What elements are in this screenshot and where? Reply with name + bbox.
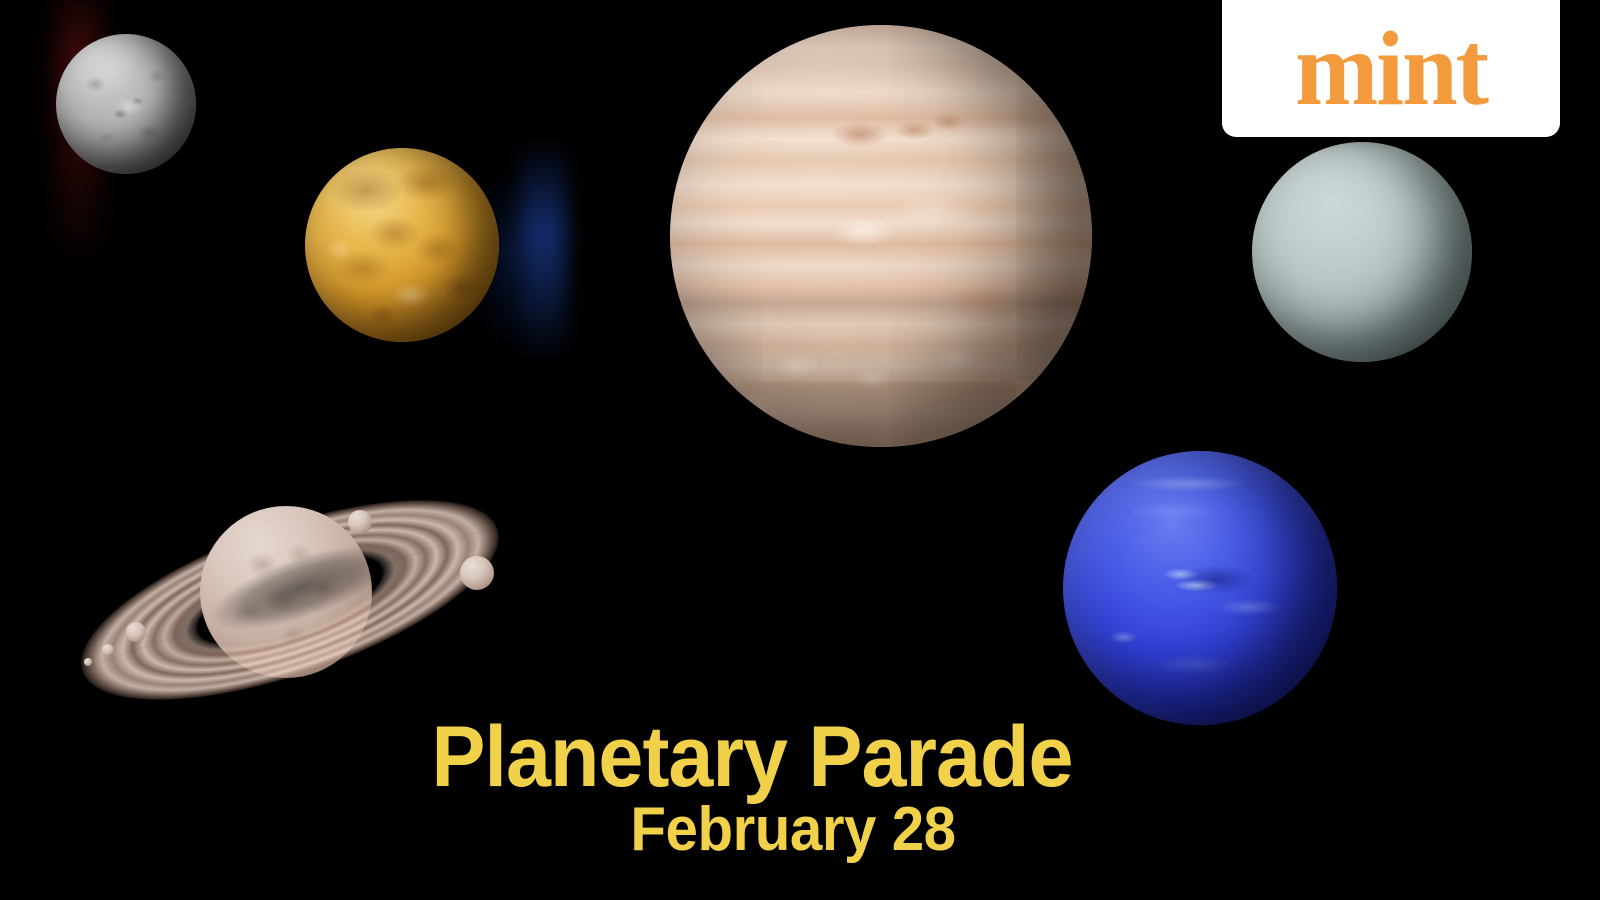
blue-nebula-glow	[520, 140, 566, 360]
saturn-moon-3	[126, 622, 146, 642]
planet-saturn-group	[56, 480, 526, 720]
mercury-shading	[56, 34, 196, 174]
planetary-parade-graphic: Planetary Parade February 28 mint	[0, 0, 1600, 900]
planet-mercury	[56, 34, 196, 174]
planet-uranus	[1252, 142, 1472, 362]
jupiter-shading	[670, 25, 1092, 447]
mint-logo-text: mint	[1295, 16, 1487, 122]
headline-block: Planetary Parade February 28	[0, 718, 1600, 861]
saturn-moon-1	[348, 510, 372, 534]
mint-logo[interactable]: mint	[1222, 0, 1560, 137]
page-subtitle: February 28	[34, 799, 1551, 861]
venus-shading	[305, 148, 499, 342]
uranus-shading	[1252, 142, 1472, 362]
saturn-moon-4	[102, 644, 114, 656]
planet-jupiter	[670, 25, 1092, 447]
page-title: Planetary Parade	[0, 718, 1549, 797]
planet-neptune	[1063, 451, 1337, 725]
planet-venus	[305, 148, 499, 342]
neptune-shading	[1063, 451, 1337, 725]
saturn-moon-2	[460, 556, 494, 590]
saturn-moon-5	[84, 658, 92, 666]
